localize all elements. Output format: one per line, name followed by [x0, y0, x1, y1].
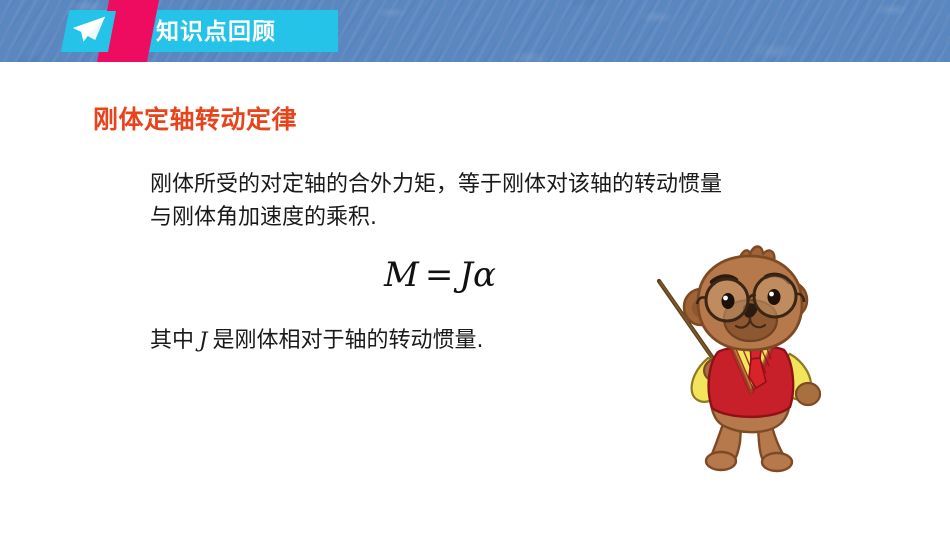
bear-head [684, 247, 807, 351]
header-band: 知识点回顾 [0, 0, 950, 62]
closing-prefix: 其中 [150, 328, 194, 353]
formula-inertia-symbol: J [459, 255, 473, 295]
closing-inertia-symbol: J [194, 328, 212, 352]
formula-alpha-symbol: α [473, 255, 496, 295]
section-heading: 刚体定轴转动定律 [93, 100, 297, 136]
slide-canvas: 知识点回顾 刚体定轴转动定律 刚体所受的对定轴的合外力矩，等于刚体对该轴的转动惯… [0, 0, 950, 535]
closing-suffix: 是刚体相对于轴的转动惯量. [212, 328, 483, 353]
paper-plane-icon [68, 14, 108, 49]
bear-right-paw [796, 383, 820, 405]
formula-operator: = [419, 255, 460, 295]
definition-paragraph: 刚体所受的对定轴的合外力矩，等于刚体对该轴的转动惯量 与刚体角加速度的乘积. [150, 168, 910, 234]
teacher-bear-mascot [650, 230, 855, 475]
formula-lhs: M [384, 255, 419, 295]
closing-paragraph: 其中J是刚体相对于轴的转动惯量. [150, 322, 483, 354]
banner-title: 知识点回顾 [156, 12, 276, 52]
definition-line-1: 刚体所受的对定轴的合外力矩，等于刚体对该轴的转动惯量 [150, 168, 910, 201]
